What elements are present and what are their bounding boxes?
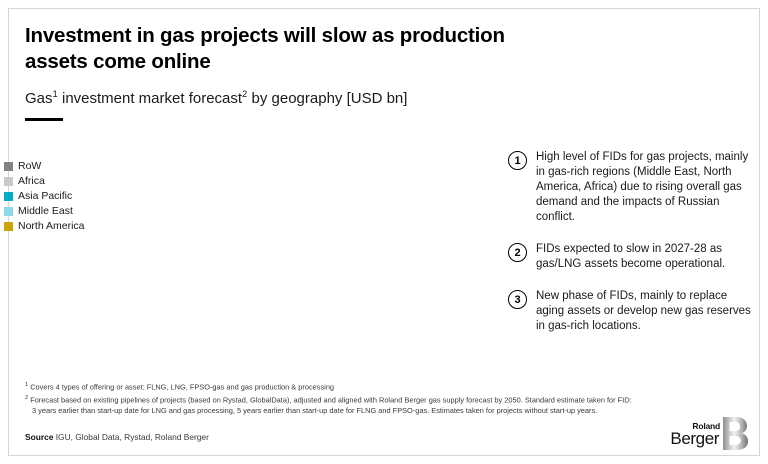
callout-text-2: FIDs expected to slow in 2027-28 as gas/… (536, 242, 753, 272)
callout-text-3: New phase of FIDs, mainly to replace agi… (536, 289, 753, 334)
logo-line-berger: Berger (670, 430, 720, 447)
callout-1: 1High level of FIDs for gas projects, ma… (508, 150, 753, 225)
roland-berger-logo: Roland Berger (670, 417, 748, 450)
callout-2: 2FIDs expected to slow in 2027-28 as gas… (508, 242, 753, 272)
footnote-marker: 2 (25, 395, 28, 401)
area-chart (20, 138, 500, 370)
footnote-1: 1 Covers 4 types of offering or asset: F… (25, 380, 725, 393)
footnote-text: Covers 4 types of offering or asset: FLN… (30, 382, 334, 391)
callout-list: 1High level of FIDs for gas projects, ma… (508, 150, 753, 351)
chart-svg (20, 138, 500, 370)
subtitle-part-c: by geography [USD bn] (247, 90, 407, 107)
callout-text-1: High level of FIDs for gas projects, mai… (536, 150, 753, 225)
callout-badge-2: 2 (508, 243, 527, 262)
source-text: IGU, Global Data, Rystad, Roland Berger (56, 432, 209, 442)
callout-badge-1: 1 (508, 151, 527, 170)
footnote-marker: 1 (25, 382, 28, 388)
page-title: Investment in gas projects will slow as … (25, 23, 545, 75)
legend-swatch-icon (4, 207, 13, 216)
subtitle-part-a: Gas (25, 90, 53, 107)
logo-wordmark: Roland Berger (670, 422, 720, 451)
legend-swatch-icon (4, 162, 13, 171)
title-divider (25, 118, 63, 121)
footnote-text: Forecast based on existing pipelines of … (30, 396, 631, 405)
legend-swatch-icon (4, 177, 13, 186)
source-line: Source IGU, Global Data, Rystad, Roland … (25, 432, 209, 442)
legend-swatch-icon (4, 222, 13, 231)
logo-b-mark (722, 417, 748, 450)
callout-badge-3: 3 (508, 290, 527, 309)
source-label: Source (25, 432, 53, 442)
footnote-list: 1 Covers 4 types of offering or asset: F… (25, 380, 725, 417)
footnote-2: 2 Forecast based on existing pipelines o… (25, 393, 725, 406)
legend-swatch-icon (4, 192, 13, 201)
footnote-3: 3 years earlier than start-up date for L… (25, 406, 725, 417)
subtitle-part-b: investment market forecast (58, 90, 242, 107)
callout-3: 3New phase of FIDs, mainly to replace ag… (508, 289, 753, 334)
footnote-text: 3 years earlier than start-up date for L… (32, 406, 597, 415)
page-subtitle: Gas1 investment market forecast2 by geog… (25, 85, 565, 108)
